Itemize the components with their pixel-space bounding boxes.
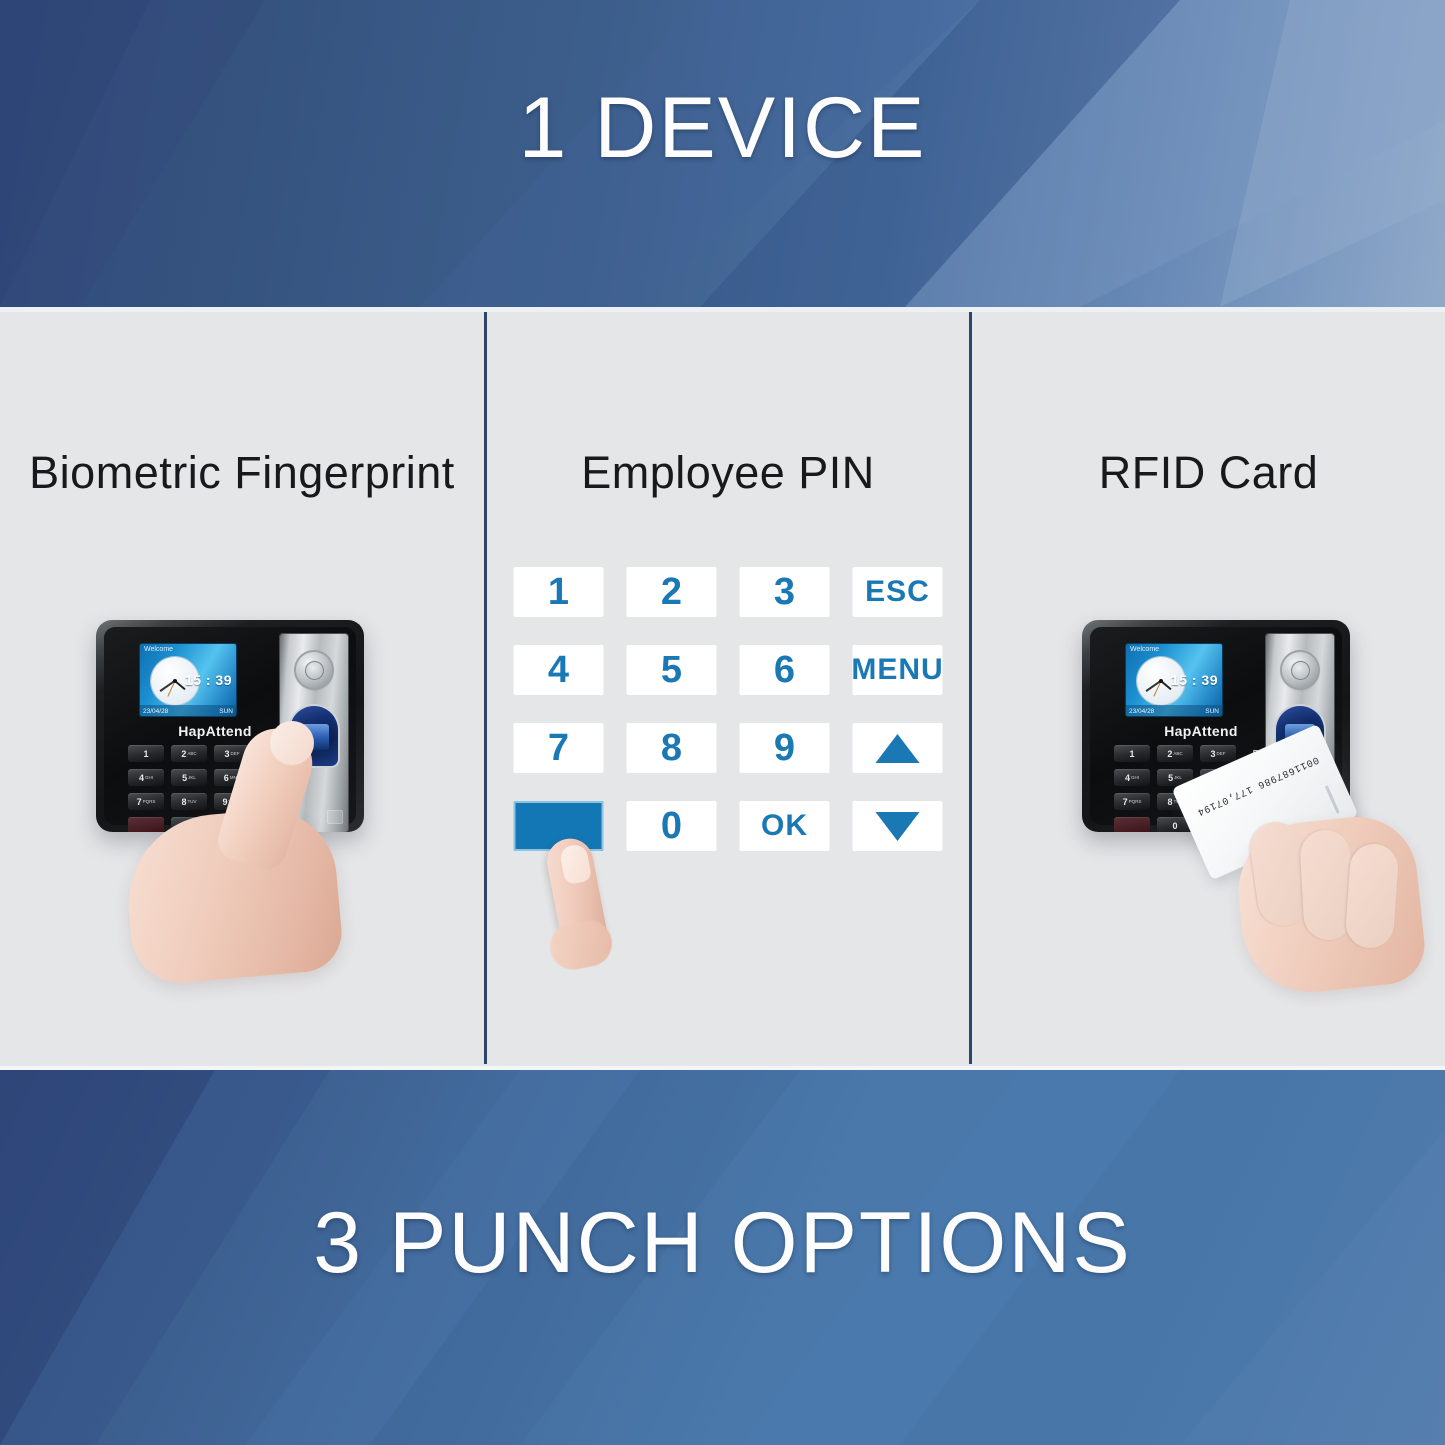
device-key-3[interactable]: 3DEF: [1200, 745, 1236, 762]
pin-key-label: OK: [761, 811, 808, 841]
device-key-7[interactable]: 7PQRS: [1114, 793, 1150, 810]
pin-key-arrow-up[interactable]: [853, 723, 943, 773]
hand-fingertip: [270, 721, 314, 765]
device-key-label: 7: [1123, 797, 1128, 807]
pin-key-5[interactable]: 5: [627, 645, 717, 695]
finger-pressing-key: [548, 838, 626, 956]
clock-center-pin: [1159, 679, 1163, 683]
lcd-welcome-text: Welcome: [1130, 646, 1159, 653]
pin-key-label: 5: [661, 651, 682, 689]
pin-key-label: 1: [548, 573, 569, 611]
device-key-sublabel: PQRS: [1129, 799, 1142, 804]
lcd-day: SUN: [219, 708, 233, 715]
pin-key-esc[interactable]: ESC: [853, 567, 943, 617]
pin-key-label: 3: [774, 573, 795, 611]
power-button-icon[interactable]: [296, 652, 332, 688]
device-key-label: 0: [1172, 821, 1177, 831]
lcd-digital-time: 15 : 39: [185, 672, 232, 688]
device-key-label: 4: [1125, 773, 1130, 783]
pin-key-label: 4: [548, 651, 569, 689]
pin-key-0[interactable]: 0: [627, 801, 717, 851]
pin-key-1[interactable]: 1: [514, 567, 604, 617]
column-title-fingerprint: Biometric Fingerprint: [0, 447, 484, 499]
pin-key-7[interactable]: 7: [514, 723, 604, 773]
pin-key-4[interactable]: 4: [514, 645, 604, 695]
pin-key-label: 9: [774, 729, 795, 767]
lcd-welcome-text: Welcome: [144, 646, 173, 653]
lcd-date: 23/04/28: [1129, 708, 1154, 715]
pin-key-6[interactable]: 6: [740, 645, 830, 695]
device-key-label: 3: [1210, 749, 1215, 759]
pin-key-label: 0: [661, 807, 682, 845]
pin-key-label: 7: [548, 729, 569, 767]
device-key-2[interactable]: 2ABC: [1157, 745, 1193, 762]
pin-key-2[interactable]: 2: [627, 567, 717, 617]
device-key-sublabel: ABC: [1173, 751, 1182, 756]
device-lcd-screen: Welcome 15 : 39 23/04/28 SUN: [140, 644, 236, 716]
device-key-sublabel: JKL: [1174, 775, 1182, 780]
pin-key-8[interactable]: 8: [627, 723, 717, 773]
pin-key-ok[interactable]: OK: [740, 801, 830, 851]
hand-finger-3: [1344, 842, 1399, 949]
hand-pressing-fingerprint: [120, 745, 380, 975]
column-title-pin: Employee PIN: [487, 447, 969, 499]
pin-key-label: ESC: [865, 577, 930, 607]
hand-holding-rfid-card: [1240, 800, 1435, 990]
bottom-banner: 3 PUNCH OPTIONS: [0, 1070, 1445, 1445]
device-key-1[interactable]: 1: [1114, 745, 1150, 762]
power-button-icon[interactable]: [1282, 652, 1318, 688]
pin-key-menu[interactable]: MENU: [853, 645, 943, 695]
device-key-label: 1: [1129, 749, 1134, 759]
pin-key-label: 6: [774, 651, 795, 689]
infographic-page: 1 DEVICE Biometric Fingerprint Employee …: [0, 0, 1445, 1445]
device-lcd-screen: Welcome 15 : 39 23/04/28 SUN: [1126, 644, 1222, 716]
pin-key-3[interactable]: 3: [740, 567, 830, 617]
lcd-date: 23/04/28: [143, 708, 168, 715]
arrow-up-icon: [876, 734, 920, 763]
device-key-sublabel: GHI: [1131, 775, 1139, 780]
top-banner: 1 DEVICE: [0, 0, 1445, 307]
pin-key-label: MENU: [851, 655, 943, 685]
pin-key-label: 2: [661, 573, 682, 611]
pin-key-label: 8: [661, 729, 682, 767]
pin-key-9[interactable]: 9: [740, 723, 830, 773]
device-key-power[interactable]: [1114, 817, 1150, 832]
device-key-label: 5: [1168, 773, 1173, 783]
lcd-day: SUN: [1205, 708, 1219, 715]
device-key-sublabel: DEF: [1217, 751, 1226, 756]
device-key-label: 8: [1167, 797, 1172, 807]
arrow-down-icon: [876, 812, 920, 841]
device-key-4[interactable]: 4GHI: [1114, 769, 1150, 786]
column-title-rfid: RFID Card: [972, 447, 1445, 499]
device-brand-label: HapAttend: [1136, 723, 1266, 739]
lcd-digital-time: 15 : 39: [1171, 672, 1218, 688]
device-key-label: 2: [1167, 749, 1172, 759]
pin-keypad[interactable]: 123ESC456MENU7890OK: [514, 567, 943, 851]
clock-center-pin: [173, 679, 177, 683]
pin-key-arrow-down[interactable]: [853, 801, 943, 851]
top-banner-title: 1 DEVICE: [0, 85, 1445, 171]
bottom-banner-title: 3 PUNCH OPTIONS: [0, 1200, 1445, 1286]
